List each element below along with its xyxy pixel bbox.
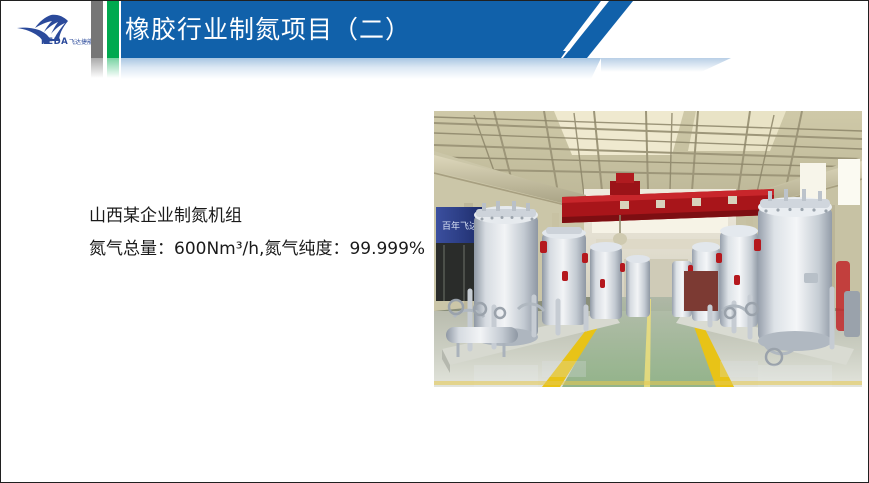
- banner-diagonal-stripe-icon: [561, 1, 633, 58]
- photo-banner-text: 百年飞达: [442, 220, 478, 232]
- caption-block: 山西某企业制氮机组 氮气总量：600Nm³/h,氮气纯度：99.999%: [89, 200, 439, 266]
- accent-bar-green: [107, 1, 119, 58]
- factory-interior-illustration: 百年飞达: [434, 111, 862, 387]
- slide-canvas: FEDA 飞达捷能 橡胶行业制氮项目（二） 山西某企业制氮机组 氮气总量：600…: [0, 0, 869, 483]
- header-banner-reflection: [121, 58, 601, 79]
- svg-text:FEDA: FEDA: [41, 37, 68, 47]
- nitrogen-plant-photo: 百年飞达: [434, 111, 862, 387]
- slide-header: FEDA 飞达捷能 橡胶行业制氮项目（二）: [1, 1, 869, 81]
- page-title: 橡胶行业制氮项目（二）: [125, 10, 411, 50]
- header-banner-reflection-right: [601, 58, 731, 72]
- accent-bar-green-reflection: [107, 58, 119, 78]
- caption-line-project: 山西某企业制氮机组: [89, 200, 439, 233]
- company-logo: FEDA 飞达捷能: [15, 13, 95, 49]
- accent-bar-grey-reflection: [91, 58, 103, 78]
- svg-text:飞达捷能: 飞达捷能: [69, 38, 93, 46]
- wing-logo-icon: FEDA 飞达捷能: [15, 13, 95, 49]
- accent-bar-grey: [91, 1, 103, 58]
- caption-line-specs: 氮气总量：600Nm³/h,氮气纯度：99.999%: [89, 233, 439, 266]
